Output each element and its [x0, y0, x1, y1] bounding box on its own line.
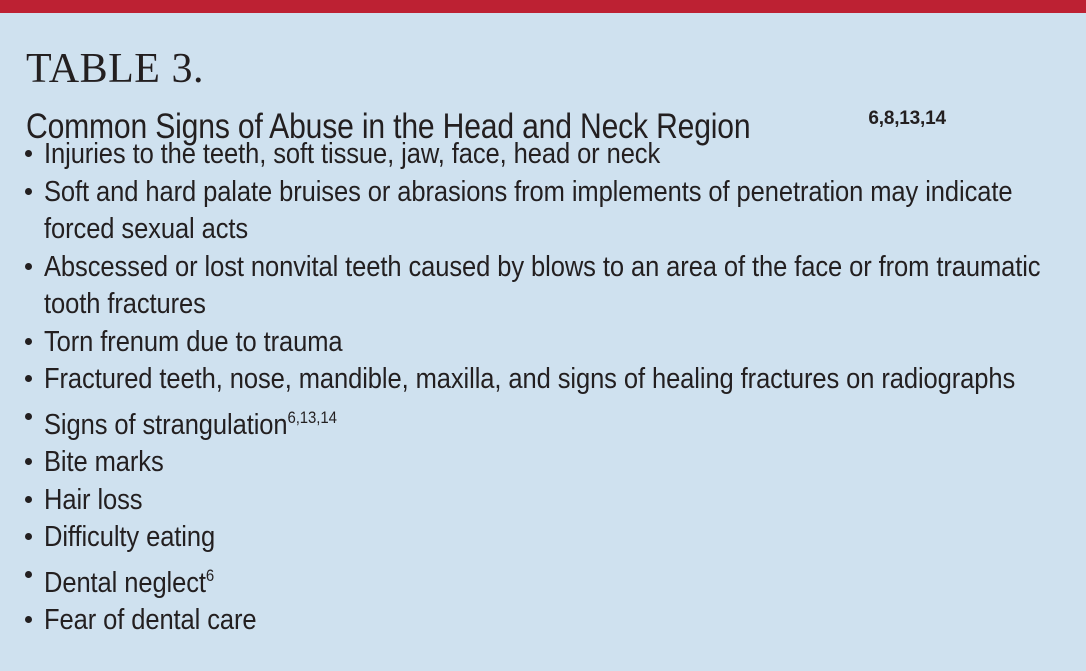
bullet-icon	[25, 533, 32, 540]
bullet-icon	[25, 458, 32, 465]
list-item: Fear of dental care	[24, 602, 1058, 640]
bullet-icon	[25, 188, 32, 195]
list-item: Hair loss	[24, 482, 1058, 520]
list-item: Difficulty eating	[24, 519, 1058, 557]
list-item-superscript: 6,13,14	[287, 408, 336, 427]
list-item-label: Abscessed or lost nonvital teeth caused …	[44, 249, 1058, 324]
table-title-superscript: 6,8,13,14	[868, 108, 945, 129]
list-item: Soft and hard palate bruises or abrasion…	[24, 174, 1058, 249]
list-item-label: Torn frenum due to trauma	[44, 324, 1058, 362]
list-item-label: Fear of dental care	[44, 602, 1058, 640]
list-item-label: Injuries to the teeth, soft tissue, jaw,…	[44, 136, 1058, 174]
list-item-superscript: 6	[206, 566, 214, 585]
bullet-icon	[25, 338, 32, 345]
list-item-label: Hair loss	[44, 482, 1058, 520]
bullet-icon	[25, 616, 32, 623]
list-item-label: Fractured teeth, nose, mandible, maxilla…	[44, 361, 1058, 399]
list-item-label: Bite marks	[44, 444, 1058, 482]
signs-list: Injuries to the teeth, soft tissue, jaw,…	[24, 136, 1058, 640]
accent-bar	[0, 0, 1086, 13]
list-item: Bite marks	[24, 444, 1058, 482]
list-item: Abscessed or lost nonvital teeth caused …	[24, 249, 1058, 324]
bullet-icon	[25, 413, 32, 420]
bullet-icon	[25, 263, 32, 270]
list-item: Injuries to the teeth, soft tissue, jaw,…	[24, 136, 1058, 174]
table-card: TABLE 3.Common Signs of Abuse in the Hea…	[0, 0, 1086, 671]
list-item-label: Signs of strangulation6,13,14	[44, 399, 1058, 445]
bullet-icon	[25, 150, 32, 157]
list-item: Signs of strangulation6,13,14	[24, 399, 1058, 445]
list-item: Torn frenum due to trauma	[24, 324, 1058, 362]
list-item-label: Soft and hard palate bruises or abrasion…	[44, 174, 1058, 249]
table-number-label: TABLE 3.	[26, 46, 204, 92]
list-item-label: Difficulty eating	[44, 519, 1058, 557]
bullet-icon	[25, 571, 32, 578]
list-item: Fractured teeth, nose, mandible, maxilla…	[24, 361, 1058, 399]
list-item-label: Dental neglect6	[44, 557, 1058, 603]
list-item: Dental neglect6	[24, 557, 1058, 603]
bullet-icon	[25, 496, 32, 503]
bullet-icon	[25, 375, 32, 382]
